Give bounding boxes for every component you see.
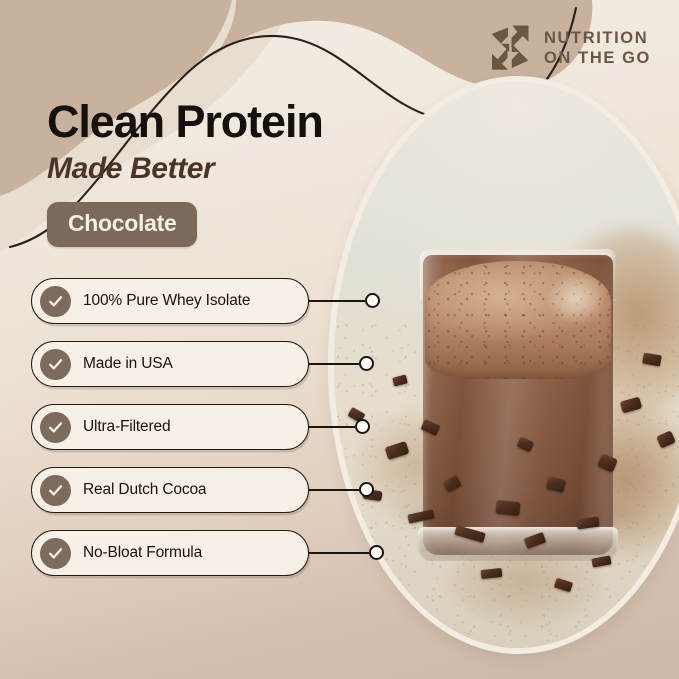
headline-block: Clean Protein Made Better <box>47 99 323 184</box>
shake-foam <box>425 261 611 379</box>
chocolate-chunk <box>495 500 520 516</box>
list-item[interactable]: Ultra-Filtered <box>31 404 321 450</box>
feature-list: 100% Pure Whey Isolate Made in USA <box>31 278 321 576</box>
check-icon <box>40 412 71 443</box>
brand-line-2: ON THE GO <box>544 50 651 67</box>
connector-endpoint <box>369 545 384 560</box>
brand-logo-text: NUTRITION ON THE GO <box>544 30 651 66</box>
check-icon <box>40 475 71 506</box>
product-poster: NUTRITION ON THE GO Clean Protein Made B… <box>0 0 679 679</box>
connector-endpoint <box>365 293 380 308</box>
feature-label: Real Dutch Cocoa <box>83 481 206 499</box>
list-item[interactable]: 100% Pure Whey Isolate <box>31 278 321 324</box>
feature-label: Ultra-Filtered <box>83 418 170 436</box>
list-item[interactable]: Made in USA <box>31 341 321 387</box>
feature-label: No-Bloat Formula <box>83 544 202 562</box>
chocolate-chunk <box>642 352 662 366</box>
connector-endpoint <box>359 356 374 371</box>
feature-label: 100% Pure Whey Isolate <box>83 292 250 310</box>
feature-pill[interactable]: Real Dutch Cocoa <box>31 467 309 513</box>
page-subtitle: Made Better <box>47 154 323 184</box>
feature-pill[interactable]: Made in USA <box>31 341 309 387</box>
feature-pill[interactable]: No-Bloat Formula <box>31 530 309 576</box>
feature-pill[interactable]: Ultra-Filtered <box>31 404 309 450</box>
photo-background <box>334 82 679 648</box>
page-title: Clean Protein <box>47 99 323 145</box>
brand-logo[interactable]: NUTRITION ON THE GO <box>487 22 651 74</box>
feature-label: Made in USA <box>83 355 173 373</box>
flavor-badge: Chocolate <box>47 202 197 247</box>
connector-line <box>309 363 359 365</box>
connector-line <box>309 426 355 428</box>
connector-line <box>309 552 369 554</box>
feature-pill[interactable]: 100% Pure Whey Isolate <box>31 278 309 324</box>
connector-endpoint <box>355 419 370 434</box>
cycle-arrows-icon <box>487 22 533 74</box>
list-item[interactable]: No-Bloat Formula <box>31 530 321 576</box>
connector-line <box>309 489 359 491</box>
product-photo <box>334 82 679 648</box>
list-item[interactable]: Real Dutch Cocoa <box>31 467 321 513</box>
check-icon <box>40 286 71 317</box>
check-icon <box>40 349 71 380</box>
chocolate-chunk <box>481 568 503 579</box>
connector-endpoint <box>359 482 374 497</box>
connector-line <box>309 300 365 302</box>
brand-line-1: NUTRITION <box>544 30 651 47</box>
foam-highlight <box>549 275 603 323</box>
check-icon <box>40 538 71 569</box>
glass-base-ring <box>418 527 618 561</box>
